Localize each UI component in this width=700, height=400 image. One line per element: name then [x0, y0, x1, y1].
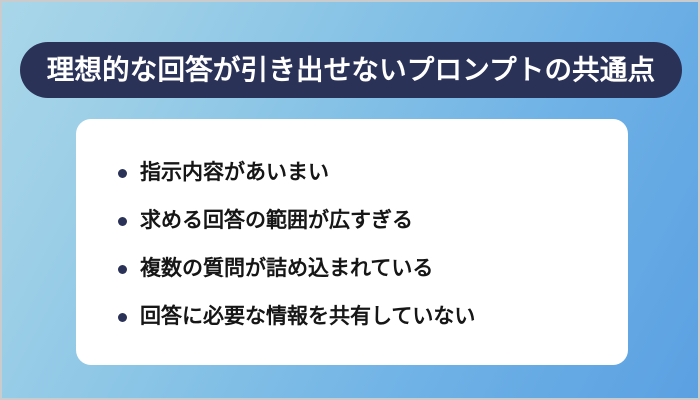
list-item: 複数の質問が詰め込まれている [118, 245, 628, 293]
bullet-list: 指示内容があいまい 求める回答の範囲が広すぎる 複数の質問が詰め込まれている 回… [118, 149, 628, 341]
bullet-dot-icon [118, 217, 127, 226]
page-title: 理想的な回答が引き出せないプロンプトの共通点 [47, 56, 656, 84]
title-banner: 理想的な回答が引き出せないプロンプトの共通点 [20, 42, 682, 98]
list-item-label: 複数の質問が詰め込まれている [140, 257, 433, 280]
bullet-dot-icon [118, 265, 127, 274]
list-item: 回答に必要な情報を共有していない [118, 293, 628, 341]
list-item-label: 回答に必要な情報を共有していない [140, 305, 475, 328]
content-card: 指示内容があいまい 求める回答の範囲が広すぎる 複数の質問が詰め込まれている 回… [76, 119, 628, 365]
list-item-label: 指示内容があいまい [140, 161, 329, 184]
list-item: 求める回答の範囲が広すぎる [118, 197, 628, 245]
bullet-dot-icon [118, 313, 127, 322]
slide-canvas: 理想的な回答が引き出せないプロンプトの共通点 指示内容があいまい 求める回答の範… [0, 0, 700, 400]
list-item-label: 求める回答の範囲が広すぎる [140, 209, 413, 232]
bullet-dot-icon [118, 169, 127, 178]
list-item: 指示内容があいまい [118, 149, 628, 197]
